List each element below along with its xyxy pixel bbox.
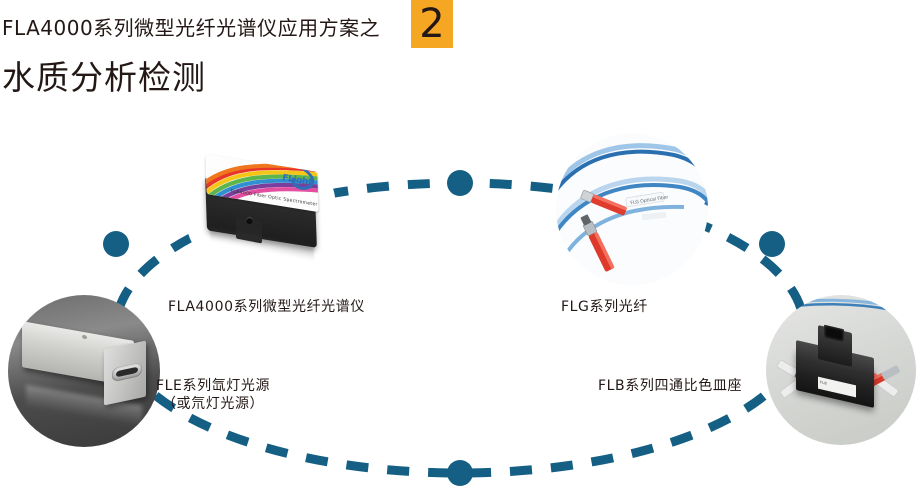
caption-lightsource-line1: FLE系列氙灯光源 <box>156 378 270 394</box>
caption-cuvette-holder: FLB系列四通比色皿座 <box>598 377 742 395</box>
caption-fiber: FLG系列光纤 <box>561 298 648 316</box>
product-photo-lightsource <box>8 295 160 447</box>
slide-canvas: FLA4000系列微型光纤光谱仪应用方案之 2 水质分析检测 <box>0 0 920 489</box>
caption-lightsource: FLE系列氙灯光源 （或氘灯光源） <box>156 377 270 413</box>
product-photo-fiber: FLG Optical Fiber <box>556 133 708 285</box>
product-photo-cuvette-holder: FLB <box>766 295 916 445</box>
caption-lightsource-line2: （或氘灯光源） <box>156 395 270 413</box>
caption-spectrometer: FLA4000系列微型光纤光谱仪 <box>168 298 365 316</box>
node-dot-left <box>103 231 129 257</box>
node-dot-right <box>759 231 785 257</box>
node-dot-bottom <box>447 460 473 486</box>
product-photo-spectrometer: FLight FLA4000 Fiber Optic Spectrometer <box>184 133 336 285</box>
node-dot-top <box>447 170 473 196</box>
fiber-cable-illustration: FLG Optical Fiber <box>556 133 708 285</box>
